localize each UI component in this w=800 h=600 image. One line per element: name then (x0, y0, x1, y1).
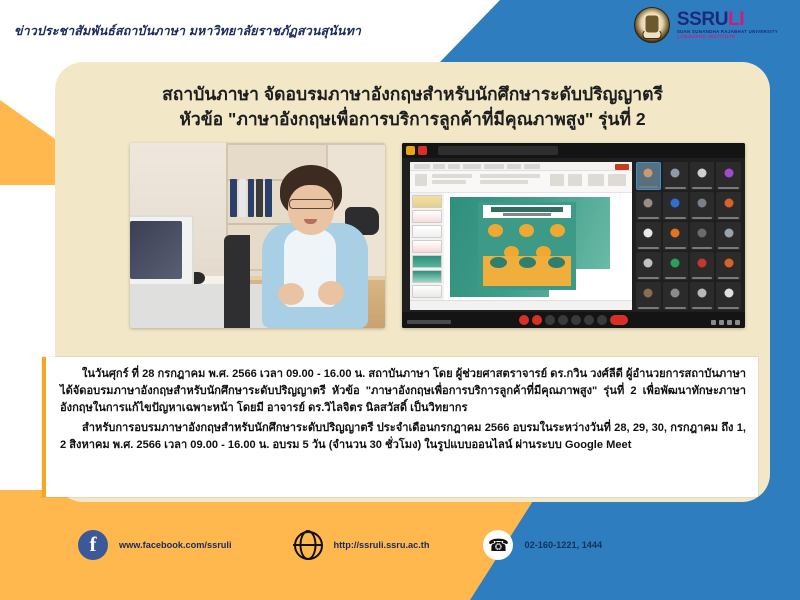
participant-tile[interactable] (716, 282, 741, 310)
footer-website-label: http://ssruli.ssru.ac.th (334, 540, 430, 550)
slide-thumbnail[interactable] (412, 285, 442, 298)
slide-thumbnail[interactable] (412, 195, 442, 208)
header-title: ข่าวประชาสัมพันธ์สถาบันภาษา มหาวิทยาลัยร… (14, 21, 361, 41)
logo-wordmark: SSRULI (677, 10, 778, 29)
participant-tile[interactable] (636, 222, 661, 250)
share-screen-button[interactable] (571, 315, 581, 325)
meeting-control-bar (402, 312, 745, 328)
participant-grid (636, 162, 741, 310)
footer-contacts: f www.facebook.com/ssruli http://ssruli.… (0, 490, 800, 600)
logo-subtitle-institute: LANGUAGE INSTITUTE (677, 35, 778, 40)
ppt-toolbar (410, 171, 632, 193)
footer-phone[interactable]: ☎ 02-160-1221, 1444 (483, 530, 602, 560)
participant-tile[interactable] (716, 162, 741, 190)
slide-thumbnail[interactable] (412, 210, 442, 223)
ppt-slide-canvas (446, 194, 631, 300)
chat-button[interactable] (558, 315, 568, 325)
participant-tile[interactable] (716, 192, 741, 220)
participant-tile[interactable] (690, 162, 715, 190)
announcement-text-box: ในวันศุกร์ ที่ 28 กรกฎาคม พ.ศ. 2566 เวลา… (42, 357, 758, 497)
leave-meeting-button[interactable] (610, 315, 628, 325)
footer-facebook-label: www.facebook.com/ssruli (119, 540, 232, 550)
app-icon-orange (406, 146, 415, 155)
ssru-logo: SSRULI SUAN SUNANDHA RAJABHAT UNIVERSITY… (634, 7, 778, 43)
ppt-status-bar (410, 300, 632, 310)
footer-phone-label: 02-160-1221, 1444 (524, 540, 602, 550)
ppt-slide-thumbnails[interactable] (410, 193, 444, 300)
slide-thumbnail[interactable] (412, 255, 442, 268)
participant-tile[interactable] (690, 282, 715, 310)
office-chair (224, 235, 250, 328)
announcement-paragraph-1: ในวันศุกร์ ที่ 28 กรกฎาคม พ.ศ. 2566 เวลา… (60, 366, 746, 417)
participant-tile[interactable] (636, 252, 661, 280)
app-window-title (438, 146, 558, 155)
logo-wordmark-li: LI (728, 9, 744, 30)
slide-infographic-header (483, 205, 571, 218)
participants-button[interactable] (545, 315, 555, 325)
footer-website[interactable]: http://ssruli.ssru.ac.th (294, 531, 430, 560)
participant-tile[interactable] (663, 162, 688, 190)
ppt-ribbon (410, 162, 632, 171)
page-title-line-2: หัวข้อ "ภาษาอังกฤษเพื่อการบริการลูกค้าที… (55, 107, 770, 132)
participant-tile[interactable] (716, 222, 741, 250)
participant-tile[interactable] (663, 192, 688, 220)
phone-icon: ☎ (483, 530, 513, 560)
app-icon-red (418, 146, 427, 155)
page-title-line-1: สถาบันภาษา จัดอบรมภาษาอังกฤษสำหรับนักศึก… (55, 82, 770, 107)
participant-tile[interactable] (663, 222, 688, 250)
slide-thumbnail[interactable] (412, 270, 442, 283)
globe-icon (294, 531, 323, 560)
participant-tile[interactable] (690, 192, 715, 220)
meeting-extra-controls[interactable] (711, 320, 740, 325)
meeting-app-titlebar (402, 143, 745, 158)
logo-wordmark-ssru: SSRU (677, 9, 728, 30)
poster-root: ข่าวประชาสัมพันธ์สถาบันภาษา มหาวิทยาลัยร… (0, 0, 800, 600)
stop-video-button[interactable] (532, 315, 542, 325)
participant-tile[interactable] (636, 282, 661, 310)
participant-tile[interactable] (716, 252, 741, 280)
footer-facebook[interactable]: f www.facebook.com/ssruli (78, 530, 232, 560)
logo-text-group: SSRULI SUAN SUNANDHA RAJABHAT UNIVERSITY… (677, 10, 778, 40)
photo-online-meeting-screenshot (402, 143, 745, 328)
announcement-paragraph-2: สำหรับการอบรมภาษาอังกฤษสำหรับนักศึกษาระด… (60, 420, 746, 454)
current-slide (450, 197, 610, 297)
facebook-icon: f (78, 530, 108, 560)
meeting-app-window (402, 143, 745, 328)
powerpoint-pane (410, 162, 632, 310)
desk-laptop (130, 284, 274, 328)
photo-gallery (130, 143, 745, 328)
ppt-record-button (615, 164, 629, 170)
participant-tile[interactable] (663, 252, 688, 280)
reactions-button[interactable] (597, 315, 607, 325)
photo-instructor-at-desk (130, 143, 385, 328)
participant-tile[interactable] (636, 162, 661, 190)
mute-mic-button[interactable] (519, 315, 529, 325)
page-title: สถาบันภาษา จัดอบรมภาษาอังกฤษสำหรับนักศึก… (55, 82, 770, 132)
participant-tile[interactable] (690, 252, 715, 280)
slide-thumbnail[interactable] (412, 240, 442, 253)
participant-tile[interactable] (636, 192, 661, 220)
slide-thumbnail[interactable] (412, 225, 442, 238)
participant-tile[interactable] (690, 222, 715, 250)
record-button[interactable] (584, 315, 594, 325)
meeting-timer (407, 320, 451, 324)
participant-tile[interactable] (663, 282, 688, 310)
slide-infographic (478, 202, 576, 290)
university-seal-icon (634, 7, 670, 43)
instructor-figure (256, 165, 374, 328)
